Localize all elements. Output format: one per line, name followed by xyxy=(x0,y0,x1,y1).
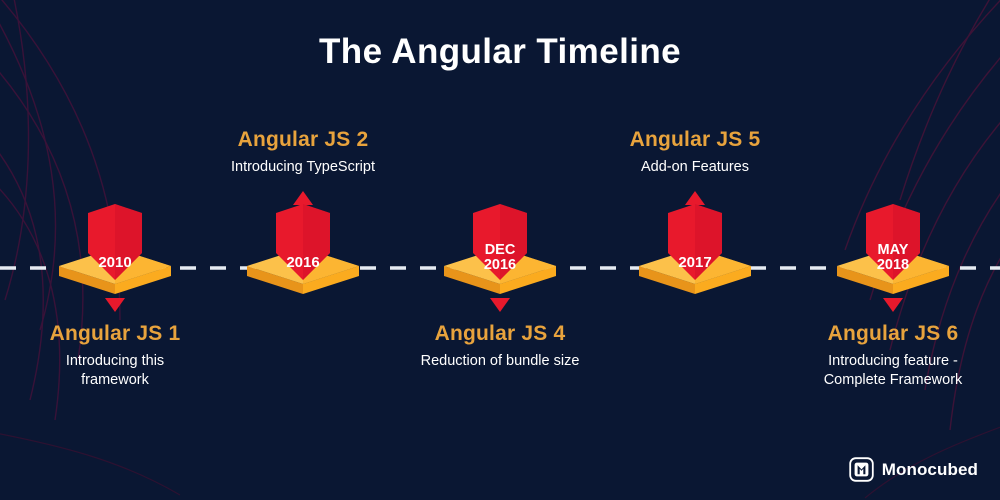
milestone-date-line: 2018 xyxy=(877,258,909,273)
angular-shield-icon: 2017 xyxy=(664,204,726,280)
milestone-date-line: MAY xyxy=(878,243,909,258)
milestone-date: DEC2016 xyxy=(469,204,531,280)
angular-shield-icon: 2016 xyxy=(272,204,334,280)
timeline-infographic: The Angular Timeline 2010Angular JS 1Int… xyxy=(0,0,1000,500)
angular-shield-icon: 2010 xyxy=(84,204,146,280)
milestone-caption: Angular JS 5Add-on Features xyxy=(580,128,810,177)
milestone-date: 2010 xyxy=(84,204,146,280)
milestone-title: Angular JS 6 xyxy=(778,322,1000,346)
monocubed-mark-icon xyxy=(849,457,874,482)
milestone-subtitle-line: Complete Framework xyxy=(778,371,1000,390)
milestone-date: MAY2018 xyxy=(862,204,924,280)
milestone-5[interactable]: MAY2018Angular JS 6Introducing feature -… xyxy=(778,0,1000,500)
milestone-date: 2017 xyxy=(664,204,726,280)
pointer-up-icon xyxy=(685,191,705,205)
milestone-date-line: 2017 xyxy=(678,255,711,270)
angular-shield-icon: DEC2016 xyxy=(469,204,531,280)
milestone-subtitle-line: Introducing feature - xyxy=(778,352,1000,371)
milestone-subtitle: Introducing TypeScript xyxy=(188,158,418,177)
brand-logo: Monocubed xyxy=(849,457,978,482)
milestone-date: 2016 xyxy=(272,204,334,280)
milestone-title: Angular JS 2 xyxy=(188,128,418,152)
milestone-4[interactable]: 2017Angular JS 5Add-on Features xyxy=(580,0,810,500)
milestone-subtitle: Introducing feature -Complete Framework xyxy=(778,352,1000,390)
milestone-caption: Angular JS 6Introducing feature -Complet… xyxy=(778,322,1000,390)
milestone-subtitle-line: Introducing TypeScript xyxy=(188,158,418,177)
pointer-up-icon xyxy=(293,191,313,205)
milestone-date-line: 2016 xyxy=(286,255,319,270)
milestone-date-line: 2010 xyxy=(98,255,131,270)
milestone-title: Angular JS 5 xyxy=(580,128,810,152)
brand-name: Monocubed xyxy=(882,460,978,480)
milestone-caption: Angular JS 2Introducing TypeScript xyxy=(188,128,418,177)
milestone-subtitle: Add-on Features xyxy=(580,158,810,177)
milestone-subtitle-line: Add-on Features xyxy=(580,158,810,177)
angular-shield-icon: MAY2018 xyxy=(862,204,924,280)
milestone-date-line: DEC xyxy=(485,243,516,258)
milestone-date-line: 2016 xyxy=(484,258,516,273)
milestone-2[interactable]: 2016Angular JS 2Introducing TypeScript xyxy=(188,0,418,500)
